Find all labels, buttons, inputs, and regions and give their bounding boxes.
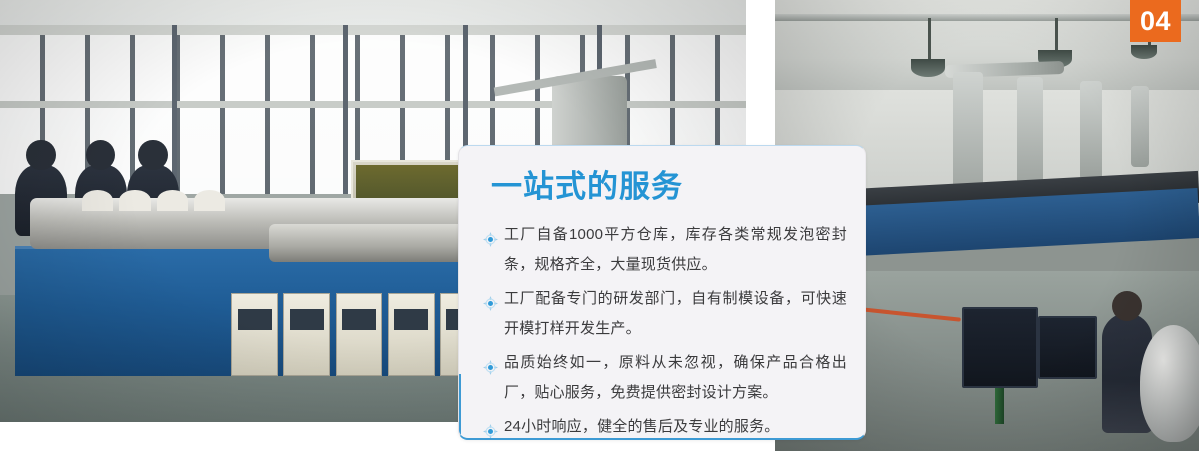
service-bullet-list: 工厂自备1000平方仓库，库存各类常规发泡密封条，规格齐全，大量现货供应。 xyxy=(459,220,865,440)
radial-bullet-icon xyxy=(483,292,498,307)
step-number-badge-label: 04 xyxy=(1140,8,1171,35)
radial-bullet-icon xyxy=(483,228,498,243)
card-title: 一站式的服务 xyxy=(491,170,865,204)
radial-bullet-icon xyxy=(483,356,498,371)
promo-banner: 04 一站式的服务 工厂自 xyxy=(0,0,1199,451)
list-item: 24小时响应，健全的售后及专业的服务。 xyxy=(483,412,847,440)
service-info-card: 一站式的服务 工厂自备1000平方仓库，库存各类常规发 xyxy=(458,145,866,440)
list-item: 工厂自备1000平方仓库，库存各类常规发泡密封条，规格齐全，大量现货供应。 xyxy=(483,220,847,280)
list-item: 品质始终如一，原料从未忽视，确保产品合格出厂，贴心服务，免费提供密封设计方案。 xyxy=(483,348,847,408)
step-number-badge: 04 xyxy=(1130,0,1181,42)
list-item-text: 工厂自备1000平方仓库，库存各类常规发泡密封条，规格齐全，大量现货供应。 xyxy=(504,226,847,273)
list-item-text: 工厂配备专门的研发部门，自有制模设备，可快速开模打样开发生产。 xyxy=(504,290,847,337)
list-item-text: 24小时响应，健全的售后及专业的服务。 xyxy=(504,418,780,435)
radial-bullet-icon xyxy=(483,420,498,435)
list-item-text: 品质始终如一，原料从未忽视，确保产品合格出厂，贴心服务，免费提供密封设计方案。 xyxy=(504,354,847,401)
list-item: 工厂配备专门的研发部门，自有制模设备，可快速开模打样开发生产。 xyxy=(483,284,847,344)
